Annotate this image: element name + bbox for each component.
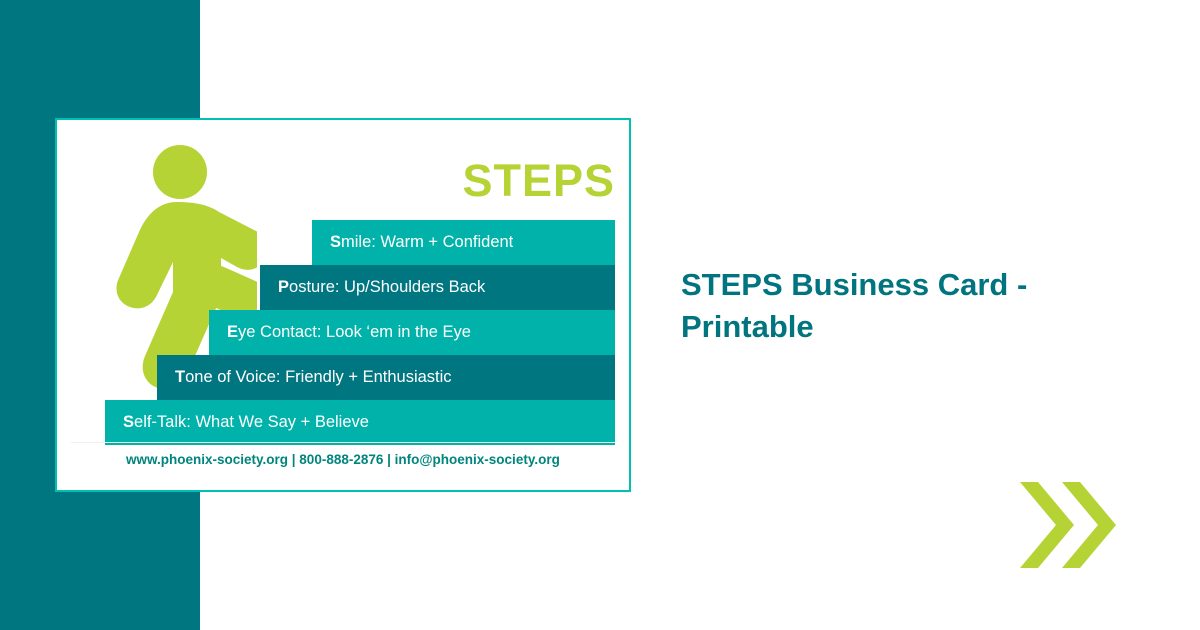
card-divider <box>71 442 615 443</box>
business-card: STEPS Smile: Warm + Confident Posture: U… <box>55 118 631 492</box>
card-heading: STEPS <box>462 158 615 203</box>
step-lead-letter: S <box>123 413 134 432</box>
step-lead-letter: P <box>278 278 289 297</box>
step-lead-letter: E <box>227 323 238 342</box>
double-chevron-right-icon <box>1018 480 1118 570</box>
card-contact-info: www.phoenix-society.org | 800-888-2876 |… <box>126 452 560 467</box>
step-bar-tone-of-voice: Tone of Voice: Friendly + Enthusiastic <box>157 355 615 400</box>
step-bar-self-talk: Self-Talk: What We Say + Believe <box>105 400 615 445</box>
page-title: STEPS Business Card - Printable <box>681 264 1101 348</box>
page-canvas: STEPS Smile: Warm + Confident Posture: U… <box>0 0 1200 630</box>
step-lead-letter: S <box>330 233 341 252</box>
step-label: elf-Talk: What We Say + Believe <box>134 413 369 432</box>
step-bar-smile: Smile: Warm + Confident <box>312 220 615 265</box>
step-label: mile: Warm + Confident <box>341 233 513 252</box>
step-lead-letter: T <box>175 368 185 387</box>
step-bar-posture: Posture: Up/Shoulders Back <box>260 265 615 310</box>
step-label: ye Contact: Look ‘em in the Eye <box>238 323 471 342</box>
step-label: osture: Up/Shoulders Back <box>289 278 485 297</box>
step-label: one of Voice: Friendly + Enthusiastic <box>185 368 451 387</box>
step-bar-eye-contact: Eye Contact: Look ‘em in the Eye <box>209 310 615 355</box>
